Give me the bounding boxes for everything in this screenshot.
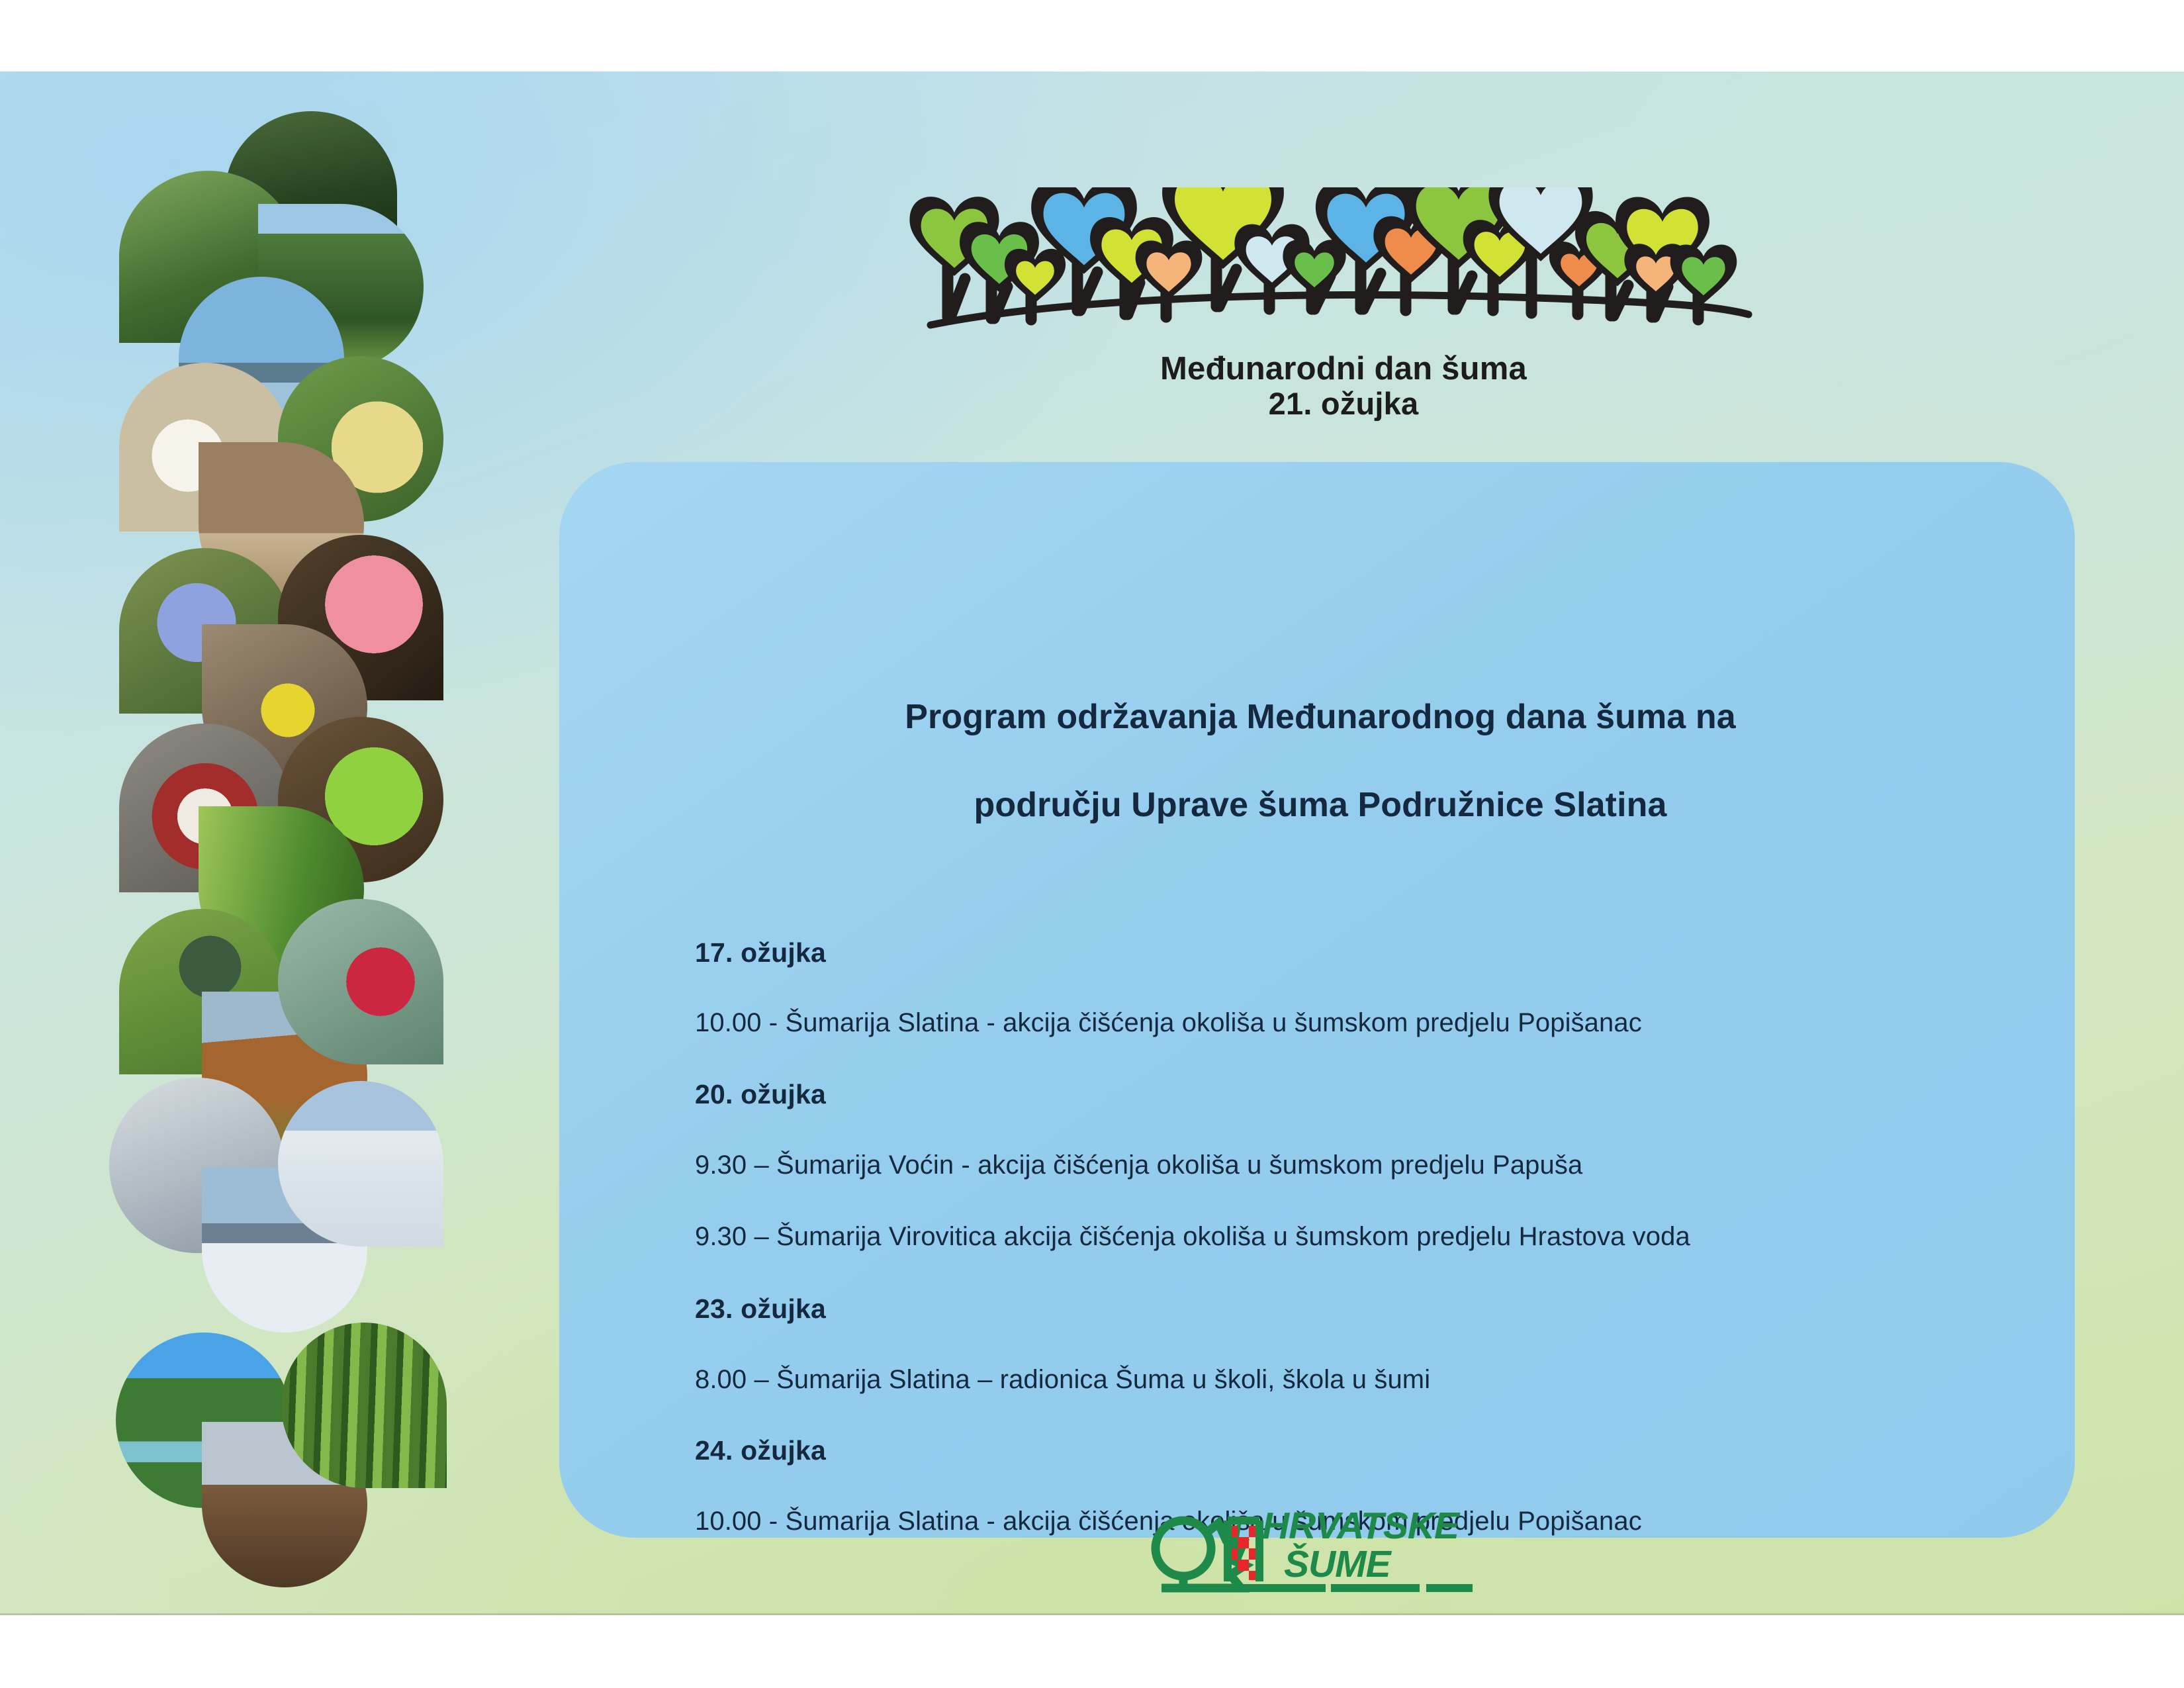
emblem-caption: Međunarodni dan šuma 21. ožujka bbox=[907, 352, 1780, 422]
international-day-of-forests-emblem: Međunarodni dan šuma 21. ožujka bbox=[907, 187, 1780, 445]
collage-photo-red-berries-frost bbox=[278, 899, 443, 1064]
heart-trees-icon bbox=[907, 187, 1780, 353]
slide-canvas: Međunarodni dan šuma 21. ožujka Program … bbox=[0, 71, 2184, 1615]
program-card: Program održavanja Međunarodnog dana šum… bbox=[559, 462, 2075, 1538]
schedule-event: 8.00 – Šumarija Slatina – radionica Šuma… bbox=[695, 1365, 1430, 1395]
schedule-day-heading: 23. ožujka bbox=[695, 1293, 826, 1325]
schedule-event: 9.30 – Šumarija Virovitica akcija čišćen… bbox=[695, 1222, 1690, 1252]
emblem-title-line1: Međunarodni dan šuma bbox=[907, 352, 1780, 387]
collage-photo-tall-beech-trunks bbox=[281, 1323, 447, 1488]
schedule-event: 10.00 - Šumarija Slatina - akcija čišćen… bbox=[695, 1008, 1642, 1038]
program-title-line1: Program održavanja Međunarodnog dana šum… bbox=[731, 697, 1909, 737]
collage-photo-snow-covered-conifers bbox=[278, 1081, 443, 1246]
program-title-line2: području Uprave šuma Podružnice Slatina bbox=[731, 785, 1909, 825]
schedule-day-heading: 17. ožujka bbox=[695, 937, 826, 968]
logo-text-line2: ŠUME bbox=[1284, 1546, 1390, 1583]
logo-text-line1: HRVATSKE bbox=[1262, 1507, 1459, 1545]
schedule-day-heading: 20. ožujka bbox=[695, 1079, 826, 1110]
nature-photo-collage bbox=[60, 71, 490, 1615]
emblem-title-line2: 21. ožujka bbox=[907, 387, 1780, 422]
schedule-day-heading: 24. ožujka bbox=[695, 1435, 826, 1466]
schedule-event: 9.30 – Šumarija Voćin - akcija čišćenja … bbox=[695, 1150, 1582, 1180]
hrvatske-sume-logo: HRVATSKE ŠUME bbox=[1142, 1505, 1499, 1604]
